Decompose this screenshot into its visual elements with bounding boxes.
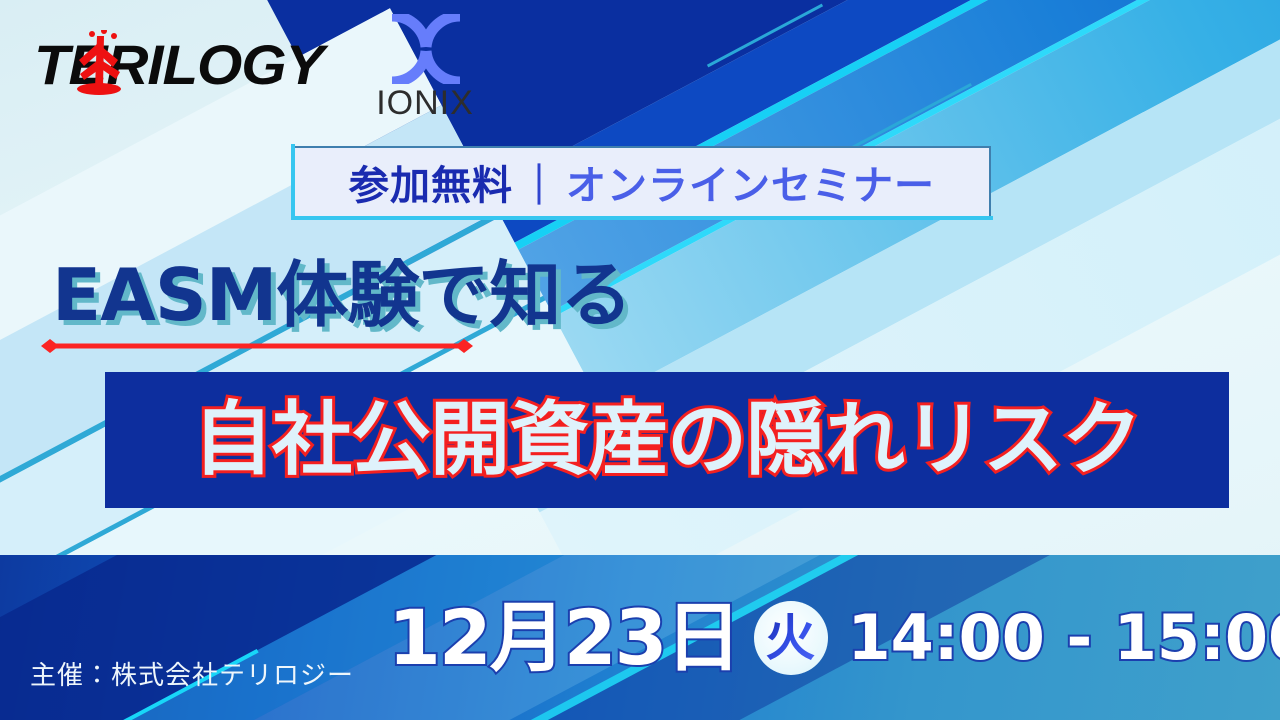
burst-antenna-icon — [70, 30, 130, 98]
weekday-label: 火 — [766, 613, 816, 663]
host-line: 主催：株式会社テリロジー — [30, 655, 354, 692]
headline: EASM体験で知る — [52, 252, 631, 338]
event-date: 12月23日 — [388, 592, 740, 684]
schedule-row: 12月23日 火 14:00 - 15:00 — [0, 555, 1280, 720]
terilogy-logo: TERILOGY — [34, 34, 334, 96]
ionix-wordmark: IONIX — [360, 84, 490, 122]
title-band: 自社公開資産の隠れリスク — [105, 372, 1229, 508]
x-arcs-icon — [388, 14, 464, 84]
event-time: 14:00 - 15:00 — [848, 600, 1280, 676]
seminar-type-badge: 参加無料｜オンラインセミナー — [293, 146, 991, 218]
badge-separator: ｜ — [513, 163, 566, 209]
weekday-badge: 火 — [754, 601, 828, 675]
main-title: 自社公開資産の隠れリスク — [105, 392, 1229, 488]
webinar-banner: TERILOGY IONIX — [0, 0, 1280, 720]
logo-row: TERILOGY IONIX — [0, 0, 1280, 130]
red-diamond-underline — [40, 339, 474, 353]
badge-text: 参加無料｜オンラインセミナー — [349, 153, 935, 211]
badge-format-label: オンラインセミナー — [566, 163, 935, 209]
badge-free-label: 参加無料 — [349, 163, 513, 209]
ionix-logo: IONIX — [360, 14, 490, 122]
